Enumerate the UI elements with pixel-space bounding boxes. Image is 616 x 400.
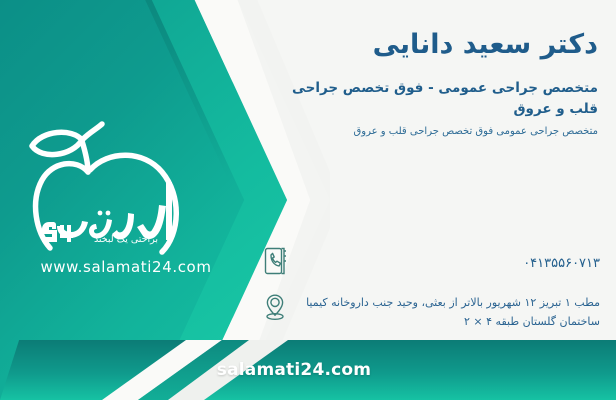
- logo-url: www.salamati24.com: [16, 258, 236, 276]
- footer-band: salamati24.com: [0, 340, 616, 400]
- address-text: مطب ۱ تبریز ۱۲ شهریور بالاتر از بعثی، وح…: [300, 290, 600, 331]
- contact-block: ۰۴۱۳۵۵۶۰۷۱۳ مطب ۱ تبریز ۱۲ شهریور بالاتر…: [260, 244, 600, 343]
- business-card: براحتی یک لبخند www.salamati24.com دکتر …: [0, 0, 616, 400]
- phone-number: ۰۴۱۳۵۵۶۰۷۱۳: [300, 244, 600, 275]
- doctor-info: دکتر سعید دانایی متخصص جراحی عمومی - فوق…: [268, 28, 598, 140]
- location-pin-icon: [260, 290, 290, 324]
- doctor-name: دکتر سعید دانایی: [268, 28, 598, 62]
- address-line-1: مطب ۱ تبریز ۱۲ شهریور بالاتر از بعثی، وح…: [306, 296, 600, 309]
- contact-row-phone[interactable]: ۰۴۱۳۵۵۶۰۷۱۳: [260, 244, 600, 278]
- contact-row-address[interactable]: مطب ۱ تبریز ۱۲ شهریور بالاتر از بعثی، وح…: [260, 290, 600, 331]
- brand-logo: براحتی یک لبخند www.salamati24.com: [16, 110, 236, 280]
- logo-slogan: براحتی یک لبخند: [16, 234, 236, 245]
- phonebook-icon: [260, 244, 290, 278]
- address-line-2: ساختمان گلستان طبقه ۴ × ۲: [300, 313, 600, 332]
- footer-website[interactable]: salamati24.com: [0, 340, 616, 400]
- doctor-specialty: متخصص جراحی عمومی - فوق تخصص جراحی قلب و…: [268, 78, 598, 120]
- doctor-specialty-secondary: متخصص جراحی عمومی فوق تخصص جراحی قلب و ع…: [268, 124, 598, 141]
